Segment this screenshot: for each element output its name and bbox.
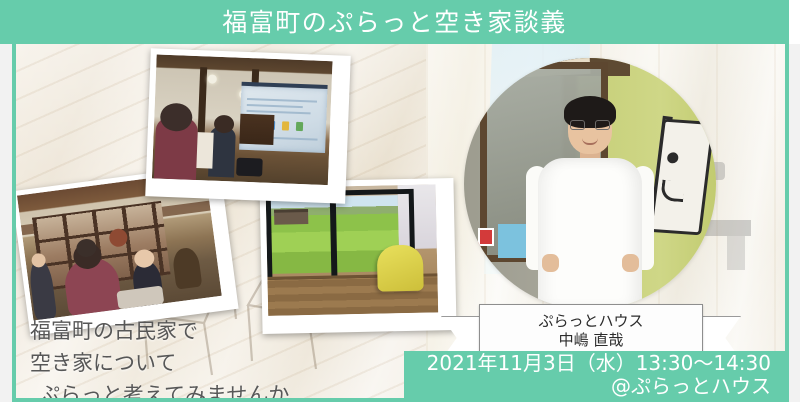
catch-copy-line-2: 空き家について — [30, 348, 360, 380]
photo-presentation — [145, 48, 351, 204]
photo-rice-field-window-image — [266, 184, 439, 316]
poster-header: 福富町のぷらっと空き家談義 — [0, 0, 789, 44]
catch-copy: 福富町の古民家で 空き家について ぷらっと考えてみませんか — [30, 316, 360, 398]
left-gutter — [0, 44, 12, 402]
right-gutter — [789, 44, 800, 402]
event-date-time: 2021年11月3日（水）13:30〜14:30 — [427, 352, 771, 374]
speaker-nameplate-plate: ぷらっとハウス 中嶋 直哉 — [479, 304, 703, 358]
bottom-gutter — [0, 402, 800, 414]
speaker-organization: ぷらっとハウス — [538, 312, 643, 331]
portrait-speaker-image — [464, 58, 716, 310]
catch-copy-line-3: ぷらっと考えてみませんか — [30, 380, 360, 398]
glasses-icon — [570, 120, 610, 130]
page-title: 福富町のぷらっと空き家談義 — [222, 10, 567, 35]
poster-stage: ぷらっとハウス 中嶋 直哉 福富町の古民家で 空き家について ぷらっと考えてみま… — [16, 44, 785, 398]
event-venue: @ぷらっとハウス — [611, 375, 771, 397]
speaker-name: 中嶋 直哉 — [559, 331, 624, 350]
portrait-speaker — [464, 58, 716, 310]
event-date-band: 2021年11月3日（水）13:30〜14:30 @ぷらっとハウス — [404, 351, 785, 398]
catch-copy-line-1: 福富町の古民家で — [30, 316, 360, 348]
photo-presentation-image — [152, 54, 333, 185]
poster-root: ぷらっとハウス 中嶋 直哉 福富町の古民家で 空き家について ぷらっと考えてみま… — [0, 0, 800, 414]
